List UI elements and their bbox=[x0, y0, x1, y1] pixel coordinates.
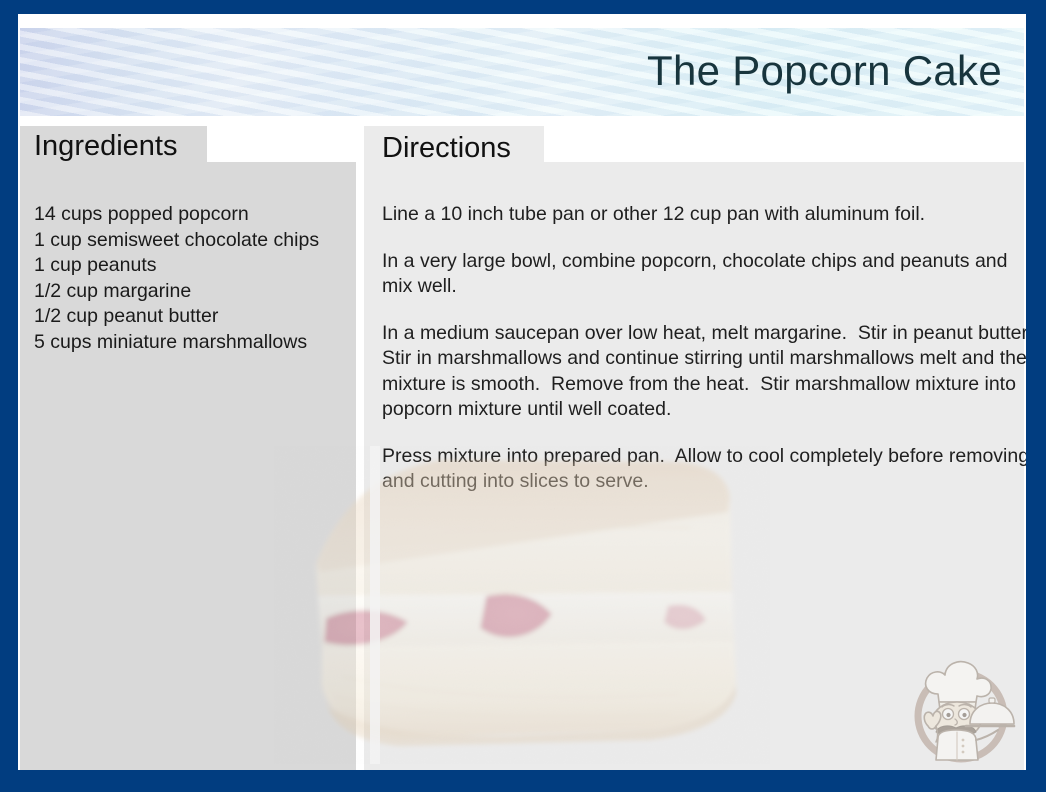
list-item: 1 cup peanuts bbox=[34, 253, 354, 279]
ingredients-list: 14 cups popped popcorn 1 cup semisweet c… bbox=[34, 202, 354, 355]
list-item: 1 cup semisweet chocolate chips bbox=[34, 228, 354, 254]
directions-heading-notch bbox=[544, 126, 1024, 162]
list-item: 1/2 cup margarine bbox=[34, 279, 354, 305]
ingredients-heading-notch bbox=[207, 126, 356, 162]
directions-body: Line a 10 inch tube pan or other 12 cup … bbox=[382, 202, 1026, 516]
directions-heading: Directions bbox=[382, 132, 511, 165]
direction-step: Line a 10 inch tube pan or other 12 cup … bbox=[382, 202, 1026, 228]
card-frame-left bbox=[0, 0, 18, 792]
title-banner: The Popcorn Cake bbox=[20, 28, 1024, 116]
recipe-card: The Popcorn Cake Ingredients 14 cups pop… bbox=[0, 0, 1046, 792]
list-item: 5 cups miniature marshmallows bbox=[34, 330, 354, 356]
direction-step: In a medium saucepan over low heat, melt… bbox=[382, 321, 1026, 423]
ingredients-heading: Ingredients bbox=[34, 130, 178, 163]
list-item: 14 cups popped popcorn bbox=[34, 202, 354, 228]
direction-step: Press mixture into prepared pan. Allow t… bbox=[382, 444, 1026, 495]
card-frame-bottom bbox=[0, 770, 1046, 792]
list-item: 1/2 cup peanut butter bbox=[34, 304, 354, 330]
page-title: The Popcorn Cake bbox=[647, 47, 1002, 95]
directions-panel: Directions Line a 10 inch tube pan or ot… bbox=[364, 126, 1024, 770]
card-frame-top bbox=[0, 0, 1046, 14]
direction-step: In a very large bowl, combine popcorn, c… bbox=[382, 249, 1026, 300]
card-page: The Popcorn Cake Ingredients 14 cups pop… bbox=[18, 14, 1026, 770]
ingredients-panel: Ingredients 14 cups popped popcorn 1 cup… bbox=[20, 126, 356, 770]
card-frame-right bbox=[1026, 0, 1046, 792]
